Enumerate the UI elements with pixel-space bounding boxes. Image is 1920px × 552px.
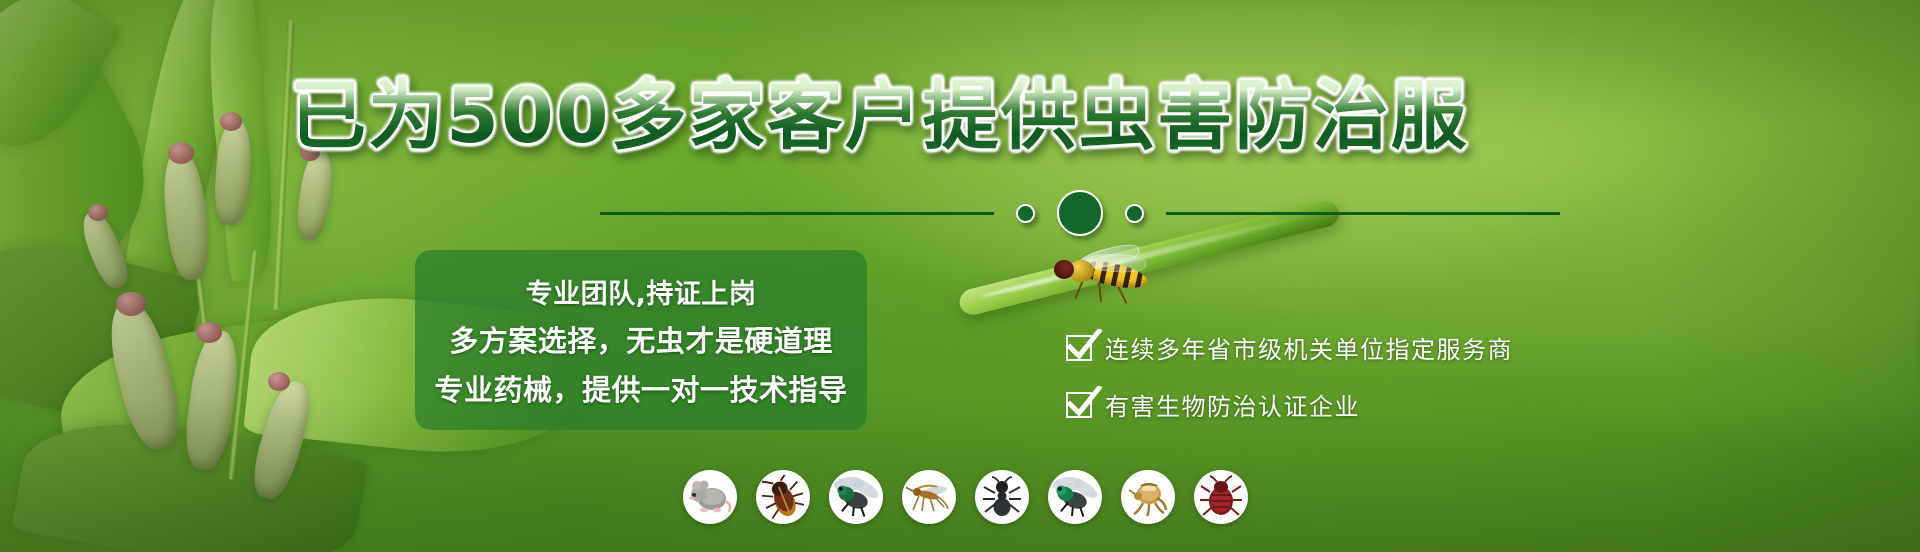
decorative-dot xyxy=(1125,204,1144,223)
list-item: 连续多年省市级机关单位指定服务商 xyxy=(1066,330,1513,365)
ant-icon[interactable]: 蚂蚁 xyxy=(975,470,1029,524)
list-item: 有害生物防治认证企业 xyxy=(1066,387,1513,422)
feature-line-1: 专业团队,持证上岗 xyxy=(526,272,757,311)
checkbox-checked-icon xyxy=(1066,335,1092,361)
credentials-list: 连续多年省市级机关单位指定服务商 有害生物防治认证企业 xyxy=(1066,330,1513,422)
fly-icon[interactable]: 苍蝇 xyxy=(829,470,883,524)
pest-icon-row: 鼠 蟑螂 xyxy=(683,470,1248,524)
mosquito-icon[interactable]: 蚊 xyxy=(902,470,956,524)
decorative-dot-large xyxy=(1057,190,1103,236)
decorative-dot xyxy=(1016,204,1035,223)
decorative-divider xyxy=(600,196,1560,230)
page-title: 已为500多家客户提供虫害防治服务! xyxy=(290,74,1470,158)
divider-line-right xyxy=(1166,212,1560,215)
feature-line-2: 多方案选择，无虫才是硬道理 xyxy=(449,318,833,360)
flea-icon[interactable]: 跳蚤 xyxy=(1121,470,1175,524)
feature-callout-box: 专业团队,持证上岗 多方案选择，无虫才是硬道理 专业药械，提供一对一技术指导 xyxy=(415,250,867,430)
promo-banner: 已为500多家客户提供虫害防治服务! 专业团队,持证上岗 多方案选择，无虫才是硬… xyxy=(0,0,1920,552)
list-item-label: 有害生物防治认证企业 xyxy=(1105,387,1360,422)
hoverfly-icon xyxy=(1052,246,1162,304)
bedbug-icon[interactable]: 臭虫 xyxy=(1194,470,1248,524)
list-item-label: 连续多年省市级机关单位指定服务商 xyxy=(1105,330,1513,365)
divider-line-left xyxy=(600,212,994,215)
cockroach-icon[interactable]: 蟑螂 xyxy=(756,470,810,524)
fly-icon[interactable]: 绿头蝇 xyxy=(1048,470,1102,524)
checkbox-checked-icon xyxy=(1066,392,1092,418)
feature-line-3: 专业药械，提供一对一技术指导 xyxy=(434,367,847,409)
rodent-icon[interactable]: 鼠 xyxy=(683,470,737,524)
